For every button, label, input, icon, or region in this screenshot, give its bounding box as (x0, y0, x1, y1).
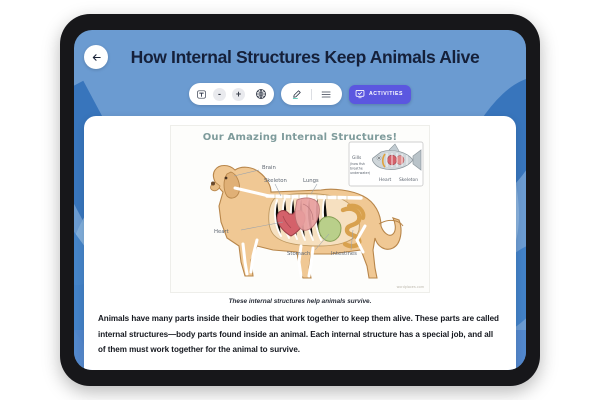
activities-button[interactable]: ACTIVITIES (349, 85, 411, 104)
svg-text:Heart: Heart (214, 229, 229, 235)
annotation-tools-group (281, 83, 342, 105)
svg-text:breathe: breathe (350, 167, 363, 171)
list-view-icon[interactable] (317, 89, 336, 100)
svg-text:Intestines: Intestines (331, 251, 357, 257)
monitor-check-icon (355, 89, 365, 99)
svg-text:Brain: Brain (262, 165, 276, 171)
text-controls-group: - + (189, 83, 274, 105)
svg-text:Stomach: Stomach (287, 251, 310, 257)
worksheet-watermark: wordplaces.com (397, 285, 424, 289)
activities-button-label: ACTIVITIES (369, 91, 403, 97)
tablet-screen: How Internal Structures Keep Animals Ali… (74, 30, 526, 370)
increase-text-size-button[interactable]: + (232, 88, 245, 101)
screenshot-stage: How Internal Structures Keep Animals Ali… (0, 0, 600, 400)
text-size-icon[interactable] (196, 89, 207, 100)
anatomy-worksheet-image: Our Amazing Internal Structures! (170, 125, 430, 293)
page-title: How Internal Structures Keep Animals Ali… (94, 47, 516, 68)
lesson-paragraph: Animals have many parts inside their bod… (98, 311, 502, 358)
svg-text:Skeleton: Skeleton (264, 178, 287, 184)
decrease-text-size-button[interactable]: - (213, 88, 226, 101)
svg-text:underwater): underwater) (350, 171, 370, 175)
svg-text:Lungs: Lungs (303, 178, 319, 184)
image-caption: These internal structures help animals s… (98, 298, 502, 305)
reader-toolbar: - + (74, 81, 526, 107)
app-header: How Internal Structures Keep Animals Ali… (74, 30, 526, 84)
dog-anatomy-diagram: Brain Skeleton Lungs Heart Stomach Intes… (171, 126, 431, 294)
lesson-content-card: Our Amazing Internal Structures! (84, 116, 516, 370)
svg-text:Skeleton: Skeleton (399, 177, 418, 183)
svg-text:(how fish: (how fish (350, 162, 365, 166)
tablet-frame: How Internal Structures Keep Animals Ali… (60, 14, 540, 386)
svg-text:Gills: Gills (352, 155, 362, 161)
toolbar-divider (311, 89, 312, 100)
highlighter-pen-icon[interactable] (287, 89, 306, 100)
svg-text:Heart: Heart (379, 177, 391, 183)
globe-icon[interactable] (255, 88, 267, 100)
